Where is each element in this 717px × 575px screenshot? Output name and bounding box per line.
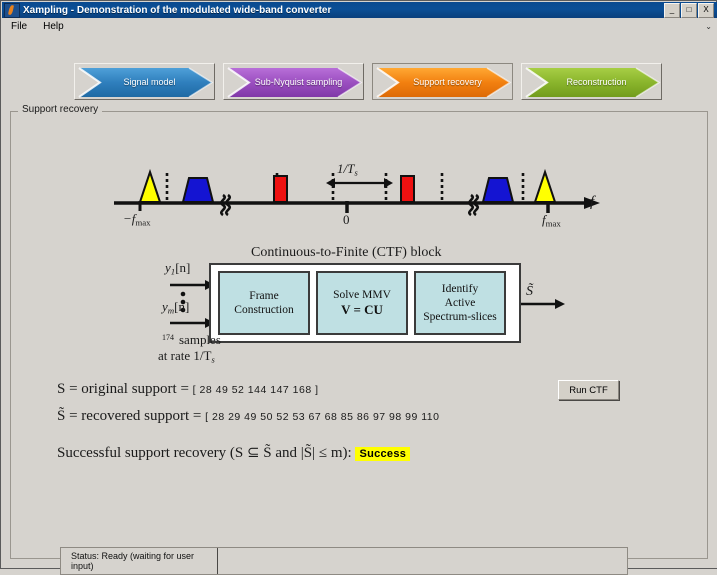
run-ctf-button[interactable]: Run CTF (558, 380, 619, 400)
ctf-stage3-line1: Identify (442, 282, 478, 296)
app-icon (4, 3, 20, 18)
support-recovery-panel-title: Support recovery (18, 104, 102, 115)
axis-label-neg-fmax: −fmax (123, 211, 151, 227)
original-support-line: S = original support = [ 28 49 52 144 14… (57, 381, 319, 398)
menu-overflow-icon[interactable]: ⌄ (705, 22, 712, 31)
menu-item-help[interactable]: Help (36, 20, 71, 33)
recovered-support-label: S̃ = recovered support = (57, 408, 201, 424)
ctf-input-label-ym: ym[n] (162, 299, 189, 315)
axis-label-zero: 0 (343, 212, 350, 228)
status-badge: Success (355, 447, 410, 461)
step-label-support-recovery: Support recovery (373, 64, 512, 99)
step-label-reconstruction: Reconstruction (522, 64, 661, 99)
step-button-sub-nyquist-sampling[interactable]: Sub-Nyquist sampling (223, 63, 364, 100)
span-label-one-over-ts: 1/Ts (337, 161, 358, 177)
ctf-block-title: Continuous-to-Finite (CTF) block (251, 245, 442, 261)
ctf-stage1-line1: Frame (249, 289, 278, 303)
application-window: Xampling - Demonstration of the modulate… (0, 0, 717, 569)
axis-label-fmax: fmax (542, 212, 561, 228)
ctf-stage1-line2: Construction (234, 303, 293, 317)
ctf-output-label: S̃ (526, 284, 533, 300)
status-bar: Status: Ready (waiting for user input) (60, 547, 628, 575)
window-title: Xampling - Demonstration of the modulate… (23, 5, 331, 16)
ctf-stage-frame-construction: Frame Construction (218, 271, 310, 335)
minimize-icon[interactable]: _ (664, 3, 680, 18)
recovery-check-label: Successful support recovery (S ⊆ S̃ and … (57, 445, 352, 461)
step-button-support-recovery[interactable]: Support recovery (372, 63, 513, 100)
axis-label-frequency: f (590, 194, 594, 211)
menu-item-file[interactable]: File (4, 20, 34, 33)
status-progress-area (218, 548, 627, 574)
close-icon[interactable]: X (698, 3, 714, 18)
ctf-samples-count: 174 (162, 333, 174, 342)
window-controls: _ □ X (664, 3, 714, 18)
ctf-samples-word: samples (179, 332, 221, 348)
step-label-signal-model: Signal model (75, 64, 214, 99)
ctf-stage2-formula: V = CU (341, 302, 383, 318)
ctf-stage-solve-mmv: Solve MMV V = CU (316, 271, 408, 335)
step-button-signal-model[interactable]: Signal model (74, 63, 215, 100)
ctf-stage3-line3: Spectrum-slices (423, 310, 496, 324)
title-bar: Xampling - Demonstration of the modulate… (2, 2, 717, 18)
original-support-values: [ 28 49 52 144 147 168 ] (193, 384, 319, 396)
workflow-steps: Signal model Sub-Nyquist sampling (74, 63, 662, 100)
ctf-stage3-line2: Active (445, 296, 476, 310)
menu-bar: File Help ⌄ (2, 18, 717, 36)
ctf-stage-identify-active-spectrum-slices: Identify Active Spectrum-slices (414, 271, 506, 335)
step-button-reconstruction[interactable]: Reconstruction (521, 63, 662, 100)
maximize-icon[interactable]: □ (681, 3, 697, 18)
step-label-sub-nyquist-sampling: Sub-Nyquist sampling (224, 64, 363, 99)
status-text: Status: Ready (waiting for user input) (61, 548, 218, 574)
client-area: Signal model Sub-Nyquist sampling (2, 35, 717, 568)
original-support-label: S = original support = (57, 381, 189, 397)
ctf-rate-label: at rate 1/Ts (158, 348, 215, 364)
ctf-input-label-y1: y1[n] (165, 260, 190, 276)
recovery-check-line: Successful support recovery (S ⊆ S̃ and … (57, 443, 410, 462)
recovered-support-line: S̃ = recovered support = [ 28 29 49 50 5… (57, 408, 439, 425)
recovered-support-values: [ 28 29 49 50 52 53 67 68 85 86 97 98 99… (205, 411, 439, 423)
ctf-stage2-line1: Solve MMV (333, 288, 391, 302)
